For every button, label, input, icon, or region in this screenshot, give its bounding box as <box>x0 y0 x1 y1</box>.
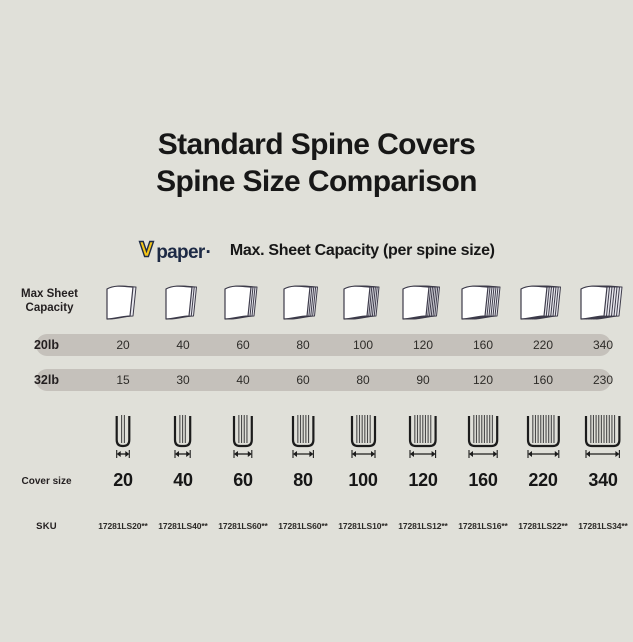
logo-trademark-dot: · <box>206 243 212 262</box>
spine-clamp-icon <box>93 403 153 463</box>
cover-size-cell: 40 <box>153 470 213 491</box>
cover-size-label: Cover size <box>0 471 93 489</box>
capacity-cell: 30 <box>153 371 213 389</box>
paper-stack-icon <box>213 272 273 330</box>
spine-clamp-icon <box>513 403 573 463</box>
subtitle-row: paper · Max. Sheet Capacity (per spine s… <box>0 240 633 262</box>
capacity-row-32lb: 32lb 15 30 40 60 80 90 120 160 230 <box>0 369 633 391</box>
sku-label: SKU <box>0 516 93 534</box>
spine-clamp-icon <box>213 403 273 463</box>
sku-cell: 17281LS40** <box>153 516 213 534</box>
capacity-cell: 220 <box>513 336 573 354</box>
title-line-2: Spine Size Comparison <box>0 163 633 200</box>
capacity-cell: 15 <box>93 371 153 389</box>
cover-size-cell: 120 <box>393 470 453 491</box>
logo-wordmark: paper <box>156 243 204 262</box>
sku-cell: 17281LS60** <box>213 516 273 534</box>
capacity-cell: 120 <box>453 371 513 389</box>
sku-cell: 17281LS60** <box>273 516 333 534</box>
cover-size-cell: 340 <box>573 470 633 491</box>
vpaper-logo: paper · <box>138 240 212 262</box>
sku-cell: 17281LS20** <box>93 516 153 534</box>
page-title: Standard Spine Covers Spine Size Compari… <box>0 126 633 200</box>
capacity-cell: 40 <box>153 336 213 354</box>
sku-cell: 17281LS10** <box>333 516 393 534</box>
capacity-cell: 80 <box>333 371 393 389</box>
capacity-cell: 230 <box>573 371 633 389</box>
cover-size-cell: 160 <box>453 470 513 491</box>
paper-stacks-row: Max Sheet Capacity <box>0 272 633 330</box>
cover-size-cell: 80 <box>273 470 333 491</box>
capacity-cell: 160 <box>513 371 573 389</box>
spine-clamp-icon <box>153 403 213 463</box>
capacity-cell: 20 <box>93 336 153 354</box>
spine-clamp-icon <box>273 403 333 463</box>
spine-comparison-table: Max Sheet Capacity 20lb 20 40 60 80 100 … <box>0 272 633 535</box>
sku-cell: 17281LS22** <box>513 516 573 534</box>
weight-label-32lb: 32lb <box>0 371 93 389</box>
capacity-cell: 90 <box>393 371 453 389</box>
logo-v-icon <box>138 240 155 258</box>
weight-label-20lb: 20lb <box>0 336 93 354</box>
sku-cell: 17281LS16** <box>453 516 513 534</box>
sku-cell: 17281LS12** <box>393 516 453 534</box>
cover-size-cell: 220 <box>513 470 573 491</box>
capacity-cell: 80 <box>273 336 333 354</box>
paper-stack-icon <box>393 272 453 330</box>
title-line-1: Standard Spine Covers <box>0 126 633 163</box>
paper-stack-icon <box>153 272 213 330</box>
spine-clamp-icon <box>453 403 513 463</box>
spine-clamp-icon <box>393 403 453 463</box>
spine-clamp-icon <box>333 403 393 463</box>
paper-stack-icon <box>93 272 153 330</box>
max-sheet-capacity-line2: Capacity <box>26 302 74 314</box>
paper-stack-icon <box>333 272 393 330</box>
sku-cell: 17281LS34** <box>573 516 633 534</box>
capacity-cell: 160 <box>453 336 513 354</box>
capacity-cell: 60 <box>213 336 273 354</box>
capacity-cell: 40 <box>213 371 273 389</box>
paper-stack-icon <box>453 272 513 330</box>
capacity-cell: 60 <box>273 371 333 389</box>
capacity-cell: 120 <box>393 336 453 354</box>
capacity-cell: 100 <box>333 336 393 354</box>
cover-size-cell: 60 <box>213 470 273 491</box>
capacity-row-20lb: 20lb 20 40 60 80 100 120 160 220 340 <box>0 334 633 356</box>
capacity-cell: 340 <box>573 336 633 354</box>
subtitle-text: Max. Sheet Capacity (per spine size) <box>230 242 495 260</box>
paper-stack-icon <box>513 272 573 330</box>
cover-size-cell: 100 <box>333 470 393 491</box>
spine-clamp-icon <box>573 403 633 463</box>
cover-size-cell: 20 <box>93 470 153 491</box>
spine-icons-row <box>0 403 633 463</box>
paper-stack-icon <box>573 272 633 330</box>
cover-size-row: Cover size 20 40 60 80 100 120 160 220 3… <box>0 467 633 493</box>
max-sheet-capacity-line1: Max Sheet <box>21 288 78 300</box>
sku-row: SKU 17281LS20** 17281LS40** 17281LS60** … <box>0 515 633 535</box>
max-sheet-capacity-label: Max Sheet Capacity <box>0 287 93 315</box>
paper-stack-icon <box>273 272 333 330</box>
